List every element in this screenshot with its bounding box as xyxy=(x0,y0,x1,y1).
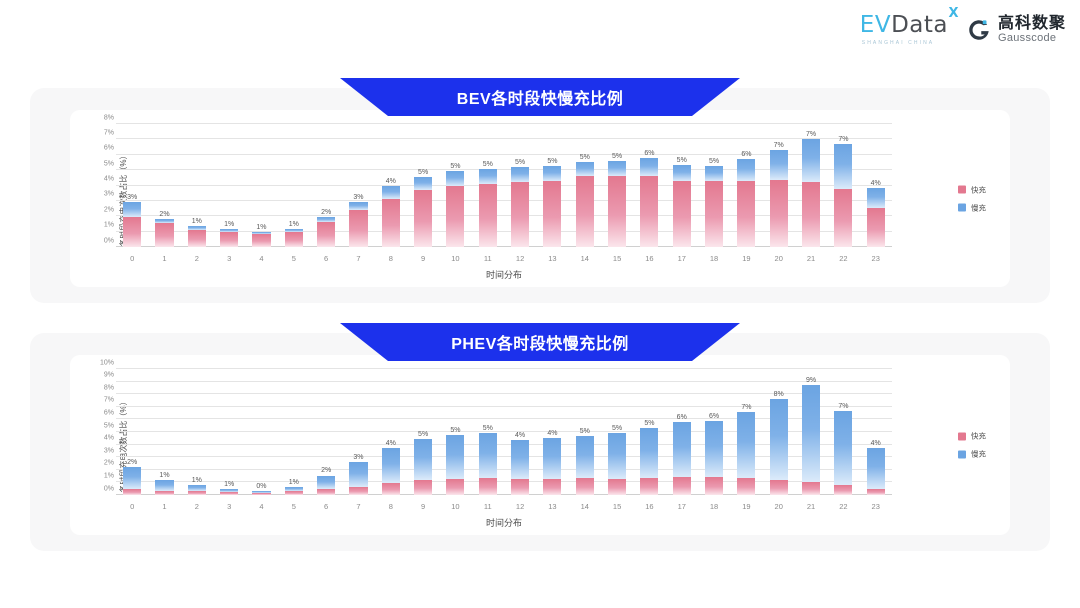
phev-legend-label-fast: 快充 xyxy=(971,431,986,442)
bar-column[interactable]: 5% xyxy=(439,369,471,495)
gausscode-logo: 高科数聚 Gausscode xyxy=(966,16,1066,44)
bar-column[interactable]: 4% xyxy=(536,369,568,495)
phev-legend: 快充 慢充 xyxy=(958,431,986,460)
y-tick-label: 8% xyxy=(104,114,114,121)
x-tick-label: 18 xyxy=(698,254,730,263)
bev-legend: 快充 慢充 xyxy=(958,184,986,213)
bar-column[interactable]: 6% xyxy=(633,124,665,247)
evdata-x-icon: X xyxy=(948,7,959,20)
bar-column[interactable]: 4% xyxy=(860,124,892,247)
bar-segment-fast xyxy=(479,478,497,495)
phev-title-ribbon: PHEV各时段快慢充比例 xyxy=(340,323,740,361)
x-tick-label: 3 xyxy=(213,254,245,263)
y-tick-label: 6% xyxy=(104,409,114,416)
bar-segment-fast xyxy=(802,482,820,495)
bar-column[interactable]: 4% xyxy=(375,124,407,247)
bev-x-axis-title: 时间分布 xyxy=(116,268,892,281)
bar-segment-slow xyxy=(382,448,400,483)
bar-value-label: 6% xyxy=(709,413,719,420)
bar-segment-fast xyxy=(576,478,594,495)
x-tick-label: 19 xyxy=(730,254,762,263)
bar-value-label: 5% xyxy=(450,163,460,170)
bev-bars: 3%2%1%1%1%1%2%3%4%5%5%5%5%5%5%5%6%5%5%6%… xyxy=(116,124,892,247)
y-tick-label: 3% xyxy=(104,447,114,454)
bar-segment-fast xyxy=(770,480,788,495)
bar-column[interactable]: 5% xyxy=(472,124,504,247)
bar-value-label: 4% xyxy=(386,178,396,185)
x-tick-label: 15 xyxy=(601,254,633,263)
bar-segment-fast xyxy=(802,182,820,247)
bev-x-ticks: 01234567891011121314151617181920212223 xyxy=(116,254,892,263)
brand-bar: EVDataX SHANGHAI CHINA 高科数聚 Gausscode xyxy=(860,14,1066,46)
bar-segment-fast xyxy=(188,491,206,495)
x-tick-label: 22 xyxy=(827,254,859,263)
bar-segment-slow xyxy=(446,435,464,478)
bar-column[interactable]: 1% xyxy=(278,369,310,495)
bar-column[interactable]: 3% xyxy=(342,124,374,247)
bar-segment-slow xyxy=(576,162,594,176)
y-tick-label: 8% xyxy=(104,384,114,391)
phev-panel: 各时段充电次数占比（%） 0%1%2%3%4%5%6%7%8%9%10% 2%1… xyxy=(30,333,1050,551)
bar-column[interactable]: 5% xyxy=(407,369,439,495)
gausscode-text: 高科数聚 Gausscode xyxy=(998,16,1066,44)
bar-value-label: 5% xyxy=(515,159,525,166)
x-tick-label: 3 xyxy=(213,502,245,511)
x-tick-label: 16 xyxy=(633,502,665,511)
bar-column[interactable]: 8% xyxy=(763,369,795,495)
bar-value-label: 5% xyxy=(677,157,687,164)
bar-segment-slow xyxy=(640,158,658,176)
bar-segment-slow xyxy=(123,467,141,489)
bar-segment-fast xyxy=(382,199,400,247)
x-tick-label: 13 xyxy=(536,254,568,263)
bar-segment-fast xyxy=(220,232,238,247)
bar-value-label: 3% xyxy=(127,194,137,201)
bar-column[interactable]: 5% xyxy=(439,124,471,247)
x-tick-label: 8 xyxy=(375,502,407,511)
y-tick-label: 1% xyxy=(104,472,114,479)
x-tick-label: 16 xyxy=(633,254,665,263)
bar-column[interactable]: 1% xyxy=(181,124,213,247)
bar-segment-slow xyxy=(576,436,594,478)
bar-column[interactable]: 5% xyxy=(633,369,665,495)
bar-value-label: 1% xyxy=(224,481,234,488)
bar-value-label: 8% xyxy=(774,391,784,398)
bev-card: 各时段充电次数占比（%） 0%1%2%3%4%5%6%7%8% 3%2%1%1%… xyxy=(70,110,1010,287)
phev-legend-item-fast: 快充 xyxy=(958,431,986,442)
x-tick-label: 20 xyxy=(763,254,795,263)
x-tick-label: 0 xyxy=(116,502,148,511)
bar-column[interactable]: 5% xyxy=(536,124,568,247)
gausscode-cn-name: 高科数聚 xyxy=(998,16,1066,33)
bar-column[interactable]: 5% xyxy=(666,124,698,247)
bar-value-label: 2% xyxy=(321,209,331,216)
bar-value-label: 7% xyxy=(838,136,848,143)
evdata-data-text: Data xyxy=(891,12,948,38)
bar-segment-fast xyxy=(123,217,141,247)
phev-card: 各时段充电次数占比（%） 0%1%2%3%4%5%6%7%8%9%10% 2%1… xyxy=(70,355,1010,535)
bar-value-label: 1% xyxy=(289,221,299,228)
bar-column[interactable]: 3% xyxy=(116,124,148,247)
bar-value-label: 2% xyxy=(159,211,169,218)
bev-panel: 各时段充电次数占比（%） 0%1%2%3%4%5%6%7%8% 3%2%1%1%… xyxy=(30,88,1050,303)
bar-value-label: 7% xyxy=(806,131,816,138)
bar-segment-fast xyxy=(252,493,270,496)
bar-column[interactable]: 7% xyxy=(827,124,859,247)
x-tick-label: 11 xyxy=(472,502,504,511)
bar-value-label: 4% xyxy=(386,440,396,447)
bar-segment-slow xyxy=(770,399,788,480)
x-tick-label: 7 xyxy=(342,502,374,511)
bar-segment-slow xyxy=(511,440,529,479)
bar-segment-slow xyxy=(479,169,497,184)
bar-segment-fast xyxy=(511,479,529,495)
bar-value-label: 7% xyxy=(838,403,848,410)
bar-value-label: 4% xyxy=(871,180,881,187)
bar-segment-fast xyxy=(673,477,691,495)
evdata-logo: EVDataX SHANGHAI CHINA xyxy=(860,14,948,46)
bar-segment-fast xyxy=(867,489,885,495)
bar-segment-fast xyxy=(737,478,755,495)
bar-segment-fast xyxy=(252,234,270,247)
x-tick-label: 8 xyxy=(375,254,407,263)
bar-value-label: 6% xyxy=(741,151,751,158)
y-tick-label: 10% xyxy=(100,359,114,366)
bar-value-label: 3% xyxy=(353,454,363,461)
x-tick-label: 19 xyxy=(730,502,762,511)
bar-segment-fast xyxy=(155,491,173,495)
bar-column[interactable]: 5% xyxy=(569,124,601,247)
evdata-wordmark: EVDataX xyxy=(860,14,948,37)
y-tick-label: 7% xyxy=(104,129,114,136)
bar-column[interactable]: 1% xyxy=(181,369,213,495)
phev-bars: 2%1%1%1%0%1%2%3%4%5%5%5%4%4%5%5%5%6%6%7%… xyxy=(116,369,892,495)
x-tick-label: 22 xyxy=(827,502,859,511)
bar-value-label: 5% xyxy=(580,154,590,161)
bar-segment-fast xyxy=(511,182,529,247)
bar-column[interactable]: 3% xyxy=(342,369,374,495)
bar-column[interactable]: 2% xyxy=(310,124,342,247)
bar-segment-slow xyxy=(834,411,852,485)
bar-segment-slow xyxy=(705,421,723,478)
fast-color-swatch xyxy=(958,186,966,194)
x-tick-label: 5 xyxy=(278,502,310,511)
x-tick-label: 12 xyxy=(504,254,536,263)
bar-segment-fast xyxy=(317,489,335,495)
x-tick-label: 21 xyxy=(795,254,827,263)
x-tick-label: 2 xyxy=(181,254,213,263)
x-tick-label: 2 xyxy=(181,502,213,511)
bar-segment-slow xyxy=(640,428,658,478)
y-tick-label: 4% xyxy=(104,435,114,442)
bar-segment-slow xyxy=(867,448,885,489)
y-tick-label: 7% xyxy=(104,397,114,404)
x-tick-label: 13 xyxy=(536,502,568,511)
bar-segment-slow xyxy=(770,150,788,180)
x-tick-label: 1 xyxy=(148,502,180,511)
bar-segment-fast xyxy=(640,478,658,495)
bar-column[interactable]: 5% xyxy=(698,124,730,247)
x-tick-label: 23 xyxy=(860,502,892,511)
bar-column[interactable]: 0% xyxy=(245,369,277,495)
x-tick-label: 14 xyxy=(569,254,601,263)
bar-value-label: 5% xyxy=(483,425,493,432)
gausscode-en-name: Gausscode xyxy=(998,33,1066,45)
bar-segment-fast xyxy=(737,181,755,247)
bar-column[interactable]: 6% xyxy=(730,124,762,247)
bev-title-ribbon: BEV各时段快慢充比例 xyxy=(340,78,740,116)
bar-segment-slow xyxy=(317,476,335,490)
bar-column[interactable]: 5% xyxy=(407,124,439,247)
phev-chart: 各时段充电次数占比（%） 0%1%2%3%4%5%6%7%8%9%10% 2%1… xyxy=(70,355,1010,535)
y-tick-label: 9% xyxy=(104,372,114,379)
bar-segment-fast xyxy=(576,176,594,247)
bar-value-label: 6% xyxy=(677,414,687,421)
x-tick-label: 21 xyxy=(795,502,827,511)
bar-segment-fast xyxy=(349,210,367,247)
bar-segment-fast xyxy=(834,485,852,495)
bar-segment-slow xyxy=(834,144,852,189)
bar-value-label: 5% xyxy=(709,158,719,165)
x-tick-label: 1 xyxy=(148,254,180,263)
bar-segment-fast xyxy=(317,222,335,247)
bar-segment-slow xyxy=(705,166,723,181)
bar-segment-fast xyxy=(446,479,464,495)
bar-value-label: 1% xyxy=(256,224,266,231)
bev-y-ticks: 0%1%2%3%4%5%6%7%8% xyxy=(90,124,114,247)
bar-segment-slow xyxy=(349,202,367,210)
bar-value-label: 1% xyxy=(192,218,202,225)
bar-segment-slow xyxy=(543,438,561,478)
bar-segment-fast xyxy=(543,181,561,247)
bar-column[interactable]: 4% xyxy=(504,369,536,495)
bar-segment-slow xyxy=(446,171,464,186)
phev-x-ticks: 01234567891011121314151617181920212223 xyxy=(116,502,892,511)
bar-segment-fast xyxy=(414,190,432,247)
y-tick-label: 5% xyxy=(104,422,114,429)
bar-column[interactable]: 5% xyxy=(472,369,504,495)
x-tick-label: 11 xyxy=(472,254,504,263)
bar-value-label: 3% xyxy=(353,194,363,201)
bar-segment-fast xyxy=(414,480,432,495)
bar-segment-fast xyxy=(479,184,497,247)
bar-segment-slow xyxy=(673,165,691,181)
bar-segment-slow xyxy=(349,462,367,487)
bar-value-label: 1% xyxy=(192,477,202,484)
bar-segment-fast xyxy=(673,181,691,247)
bar-segment-fast xyxy=(155,223,173,247)
bar-segment-fast xyxy=(220,492,238,495)
bar-value-label: 5% xyxy=(612,153,622,160)
phev-legend-item-slow: 慢充 xyxy=(958,449,986,460)
y-tick-label: 5% xyxy=(104,160,114,167)
bev-legend-label-fast: 快充 xyxy=(971,184,986,195)
x-tick-label: 12 xyxy=(504,502,536,511)
x-tick-label: 23 xyxy=(860,254,892,263)
bar-segment-slow xyxy=(479,433,497,478)
bar-value-label: 4% xyxy=(871,440,881,447)
bar-segment-slow xyxy=(511,167,529,182)
bar-column[interactable]: 1% xyxy=(213,124,245,247)
bar-value-label: 0% xyxy=(256,483,266,490)
bar-segment-slow xyxy=(737,159,755,181)
bar-column[interactable]: 5% xyxy=(601,124,633,247)
x-tick-label: 6 xyxy=(310,502,342,511)
bar-column[interactable]: 5% xyxy=(601,369,633,495)
bar-value-label: 7% xyxy=(741,404,751,411)
x-tick-label: 15 xyxy=(601,502,633,511)
bar-column[interactable]: 1% xyxy=(245,124,277,247)
bar-value-label: 5% xyxy=(644,420,654,427)
bar-column[interactable]: 2% xyxy=(310,369,342,495)
x-tick-label: 6 xyxy=(310,254,342,263)
bar-column[interactable]: 7% xyxy=(730,369,762,495)
x-tick-label: 17 xyxy=(666,502,698,511)
phev-legend-label-slow: 慢充 xyxy=(971,449,986,460)
bar-segment-slow xyxy=(608,433,626,479)
x-tick-label: 9 xyxy=(407,502,439,511)
bev-legend-label-slow: 慢充 xyxy=(971,202,986,213)
slow-color-swatch xyxy=(958,450,966,458)
bar-segment-slow xyxy=(382,186,400,199)
y-tick-label: 2% xyxy=(104,206,114,213)
y-tick-label: 6% xyxy=(104,145,114,152)
bar-segment-slow xyxy=(414,177,432,190)
bar-value-label: 5% xyxy=(483,161,493,168)
bar-column[interactable]: 5% xyxy=(569,369,601,495)
bar-value-label: 2% xyxy=(127,459,137,466)
x-tick-label: 20 xyxy=(763,502,795,511)
bar-column[interactable]: 1% xyxy=(148,369,180,495)
bar-value-label: 1% xyxy=(159,472,169,479)
x-tick-label: 4 xyxy=(245,254,277,263)
bar-segment-fast xyxy=(608,176,626,247)
bar-segment-slow xyxy=(608,161,626,176)
bar-segment-fast xyxy=(608,479,626,495)
bar-column[interactable]: 6% xyxy=(698,369,730,495)
x-tick-label: 4 xyxy=(245,502,277,511)
bar-value-label: 7% xyxy=(774,142,784,149)
bar-segment-fast xyxy=(770,180,788,247)
bar-column[interactable]: 2% xyxy=(116,369,148,495)
x-tick-label: 10 xyxy=(439,502,471,511)
bar-value-label: 1% xyxy=(289,479,299,486)
bar-value-label: 5% xyxy=(612,425,622,432)
fast-color-swatch xyxy=(958,432,966,440)
bar-value-label: 5% xyxy=(450,427,460,434)
y-tick-label: 0% xyxy=(104,485,114,492)
bar-segment-fast xyxy=(123,489,141,495)
bar-segment-fast xyxy=(867,208,885,247)
bar-segment-fast xyxy=(705,181,723,247)
bar-segment-fast xyxy=(382,483,400,495)
bar-segment-fast xyxy=(640,176,658,247)
bar-column[interactable]: 4% xyxy=(375,369,407,495)
slide-page: EVDataX SHANGHAI CHINA 高科数聚 Gausscode 各时… xyxy=(0,0,1080,608)
bar-value-label: 2% xyxy=(321,467,331,474)
bar-value-label: 5% xyxy=(580,428,590,435)
bar-segment-slow xyxy=(123,202,141,217)
bar-value-label: 4% xyxy=(547,430,557,437)
bar-value-label: 9% xyxy=(806,377,816,384)
bar-segment-fast xyxy=(446,186,464,247)
bev-chart: 各时段充电次数占比（%） 0%1%2%3%4%5%6%7%8% 3%2%1%1%… xyxy=(70,110,1010,287)
bar-column[interactable]: 2% xyxy=(148,124,180,247)
bar-value-label: 5% xyxy=(418,169,428,176)
x-tick-label: 14 xyxy=(569,502,601,511)
bar-segment-fast xyxy=(543,479,561,495)
bar-segment-slow xyxy=(737,412,755,478)
slow-color-swatch xyxy=(958,204,966,212)
y-tick-label: 3% xyxy=(104,191,114,198)
bar-segment-slow xyxy=(155,480,173,491)
bev-legend-item-fast: 快充 xyxy=(958,184,986,195)
bar-segment-fast xyxy=(349,487,367,495)
gausscode-g-mark-icon xyxy=(966,17,992,43)
bar-value-label: 6% xyxy=(644,150,654,157)
bar-segment-slow xyxy=(543,166,561,181)
y-tick-label: 4% xyxy=(104,176,114,183)
x-tick-label: 10 xyxy=(439,254,471,263)
bar-value-label: 5% xyxy=(418,431,428,438)
bar-segment-fast xyxy=(188,230,206,247)
y-tick-label: 2% xyxy=(104,460,114,467)
bar-column[interactable]: 1% xyxy=(278,124,310,247)
bar-segment-fast xyxy=(705,477,723,495)
bar-segment-slow xyxy=(673,422,691,477)
phev-y-ticks: 0%1%2%3%4%5%6%7%8%9%10% xyxy=(90,369,114,495)
bar-segment-fast xyxy=(285,232,303,247)
bar-column[interactable]: 4% xyxy=(860,369,892,495)
bar-column[interactable]: 7% xyxy=(827,369,859,495)
bar-value-label: 4% xyxy=(515,432,525,439)
bar-value-label: 1% xyxy=(224,221,234,228)
bar-column[interactable]: 5% xyxy=(504,124,536,247)
phev-x-axis-title: 时间分布 xyxy=(116,516,892,529)
bar-column[interactable]: 7% xyxy=(795,124,827,247)
x-tick-label: 0 xyxy=(116,254,148,263)
bar-segment-slow xyxy=(414,439,432,480)
evdata-tagline: SHANGHAI CHINA xyxy=(862,40,934,46)
y-tick-label: 0% xyxy=(104,237,114,244)
bar-value-label: 5% xyxy=(547,158,557,165)
bar-column[interactable]: 6% xyxy=(666,369,698,495)
bar-segment-slow xyxy=(802,139,820,181)
bar-segment-fast xyxy=(285,491,303,495)
x-tick-label: 17 xyxy=(666,254,698,263)
x-tick-label: 5 xyxy=(278,254,310,263)
evdata-ev-text: EV xyxy=(860,12,891,38)
bar-segment-slow xyxy=(802,385,820,482)
x-tick-label: 7 xyxy=(342,254,374,263)
bar-column[interactable]: 9% xyxy=(795,369,827,495)
bar-segment-fast xyxy=(834,189,852,247)
bar-column[interactable]: 7% xyxy=(763,124,795,247)
y-tick-label: 1% xyxy=(104,222,114,229)
x-tick-label: 18 xyxy=(698,502,730,511)
x-tick-label: 9 xyxy=(407,254,439,263)
bar-column[interactable]: 1% xyxy=(213,369,245,495)
bar-segment-slow xyxy=(867,188,885,208)
bev-legend-item-slow: 慢充 xyxy=(958,202,986,213)
